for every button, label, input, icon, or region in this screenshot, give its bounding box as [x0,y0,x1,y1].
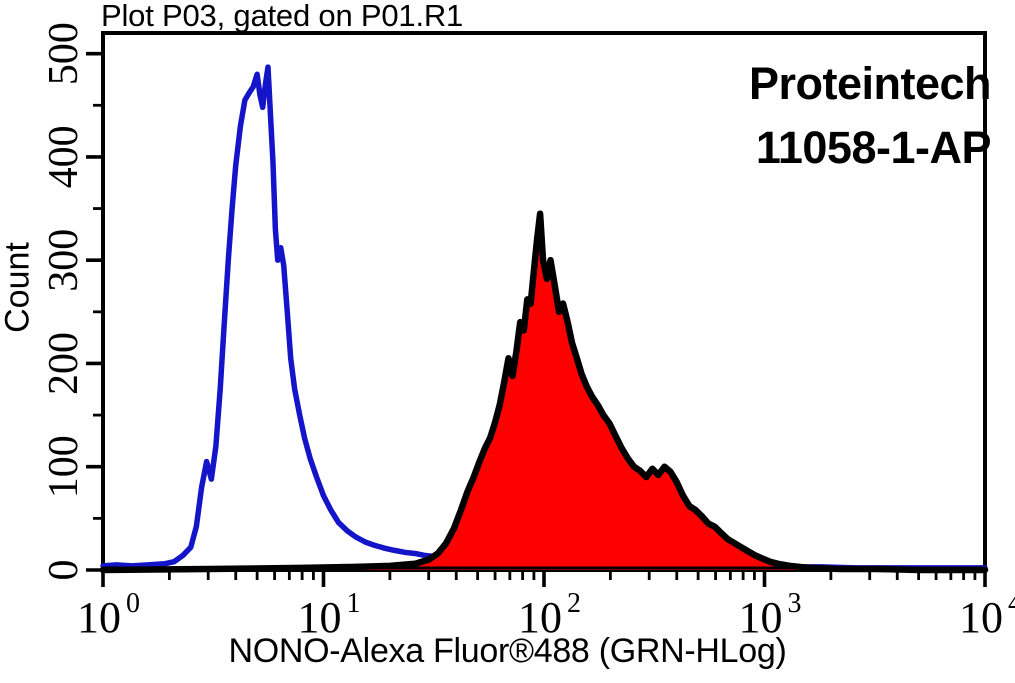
y-tick-label: 0 [41,560,87,581]
svg-text:1: 1 [347,588,361,619]
histogram-plot: 1001011021031040100200300400500 [0,0,1015,683]
y-tick-label: 200 [41,332,87,395]
svg-text:0: 0 [126,588,140,619]
svg-text:2: 2 [567,588,581,619]
x-axis-title: NONO-Alexa Fluor®488 (GRN-HLog) [0,632,1015,671]
svg-text:4: 4 [1008,588,1015,619]
y-tick-label: 100 [41,435,87,498]
flow-cytometry-figure: Plot P03, gated on P01.R1 Proteintech 11… [0,0,1015,683]
y-tick-label: 400 [41,125,87,188]
curves-group [103,67,985,570]
y-tick-label: 500 [41,22,87,85]
y-tick-label: 300 [41,229,87,292]
svg-text:3: 3 [788,588,802,619]
y-axis-title: Count [0,188,38,388]
